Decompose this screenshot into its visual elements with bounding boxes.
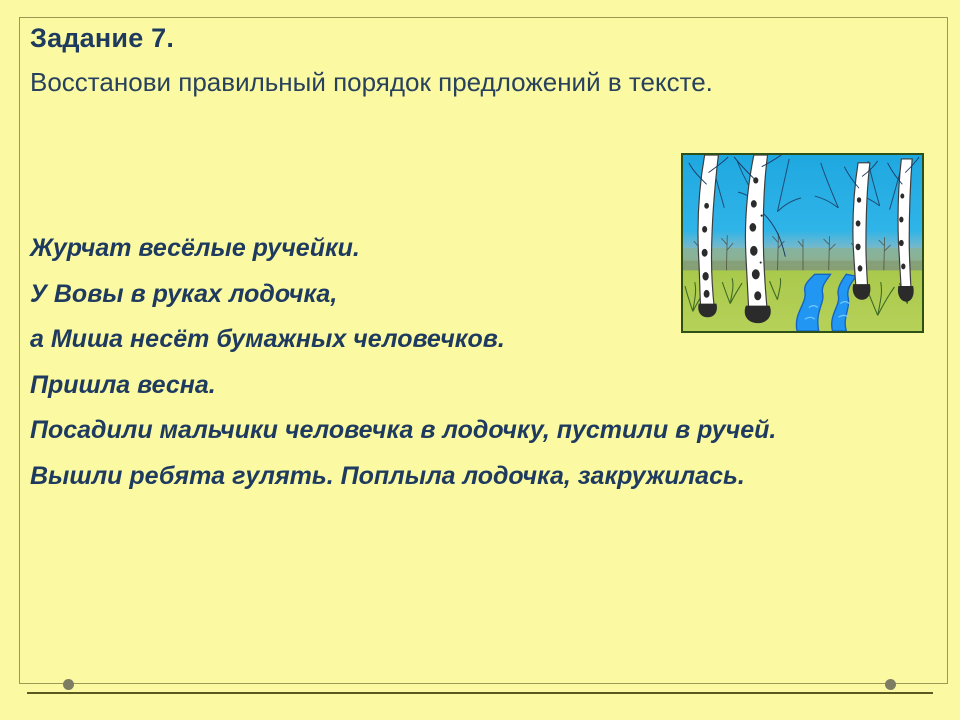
- birch-forest-image: [683, 155, 922, 331]
- slide: Задание 7. Восстанови правильный порядок…: [0, 0, 960, 720]
- bottom-divider: [27, 692, 933, 694]
- list-item[interactable]: Журчат весёлые ручейки.: [30, 232, 650, 265]
- list-item[interactable]: У Вовы в руках лодочка,: [30, 278, 650, 311]
- list-item[interactable]: Пришла весна.: [30, 369, 650, 402]
- birch-forest-illustration: [681, 153, 924, 333]
- task-prompt: Восстанови правильный порядок предложени…: [30, 66, 930, 99]
- corner-dot-left: [63, 679, 74, 690]
- list-item[interactable]: а Миша несёт бумажных человечков.: [30, 323, 650, 356]
- page-title: Задание 7.: [30, 24, 935, 54]
- list-item[interactable]: Посадили мальчики человечка в лодочку, п…: [30, 414, 935, 447]
- list-item[interactable]: Вышли ребята гулять. Поплыла лодочка, за…: [30, 460, 935, 493]
- task-text-block: Задание 7. Восстанови правильный порядок…: [30, 24, 935, 99]
- corner-dot-right: [885, 679, 896, 690]
